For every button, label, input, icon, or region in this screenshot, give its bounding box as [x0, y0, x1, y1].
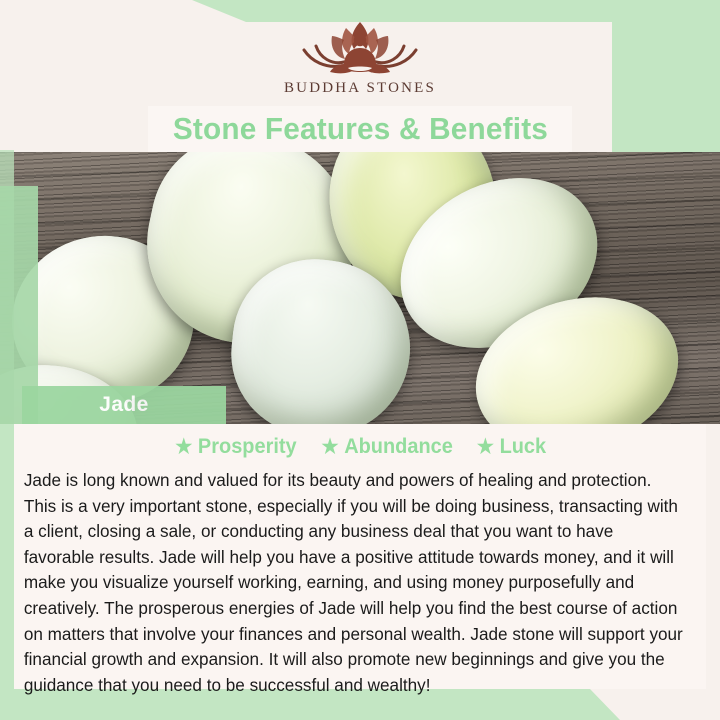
brand-name: BUDDHA STONES: [284, 80, 436, 97]
keyword-prosperity: ★ Prosperity: [176, 435, 297, 459]
page-title: Stone Features & Benefits: [172, 111, 547, 147]
stone-name-bar: Jade: [22, 386, 226, 424]
infographic-page: BUDDHA STONES Stone Features & Benefits …: [0, 0, 720, 720]
keyword-label: Luck: [499, 435, 546, 459]
stone-photo: [0, 152, 720, 424]
star-icon: ★: [176, 437, 193, 457]
star-icon: ★: [476, 437, 493, 457]
keyword-label: Prosperity: [198, 435, 297, 459]
stone-name-label: Jade: [99, 393, 148, 417]
keyword-abundance: ★ Abundance: [322, 435, 453, 459]
keyword-luck: ★ Luck: [476, 435, 545, 459]
content-card: ★ Prosperity ★ Abundance ★ Luck Jade is …: [14, 424, 706, 689]
keyword-list: ★ Prosperity ★ Abundance ★ Luck: [14, 424, 706, 464]
brand-logo: BUDDHA STONES: [0, 12, 720, 112]
star-icon: ★: [322, 437, 339, 457]
keyword-label: Abundance: [344, 435, 453, 459]
stone-description: Jade is long known and valued for its be…: [14, 464, 696, 698]
lotus-meditation-icon: [294, 12, 426, 78]
title-banner: Stone Features & Benefits: [148, 106, 572, 152]
